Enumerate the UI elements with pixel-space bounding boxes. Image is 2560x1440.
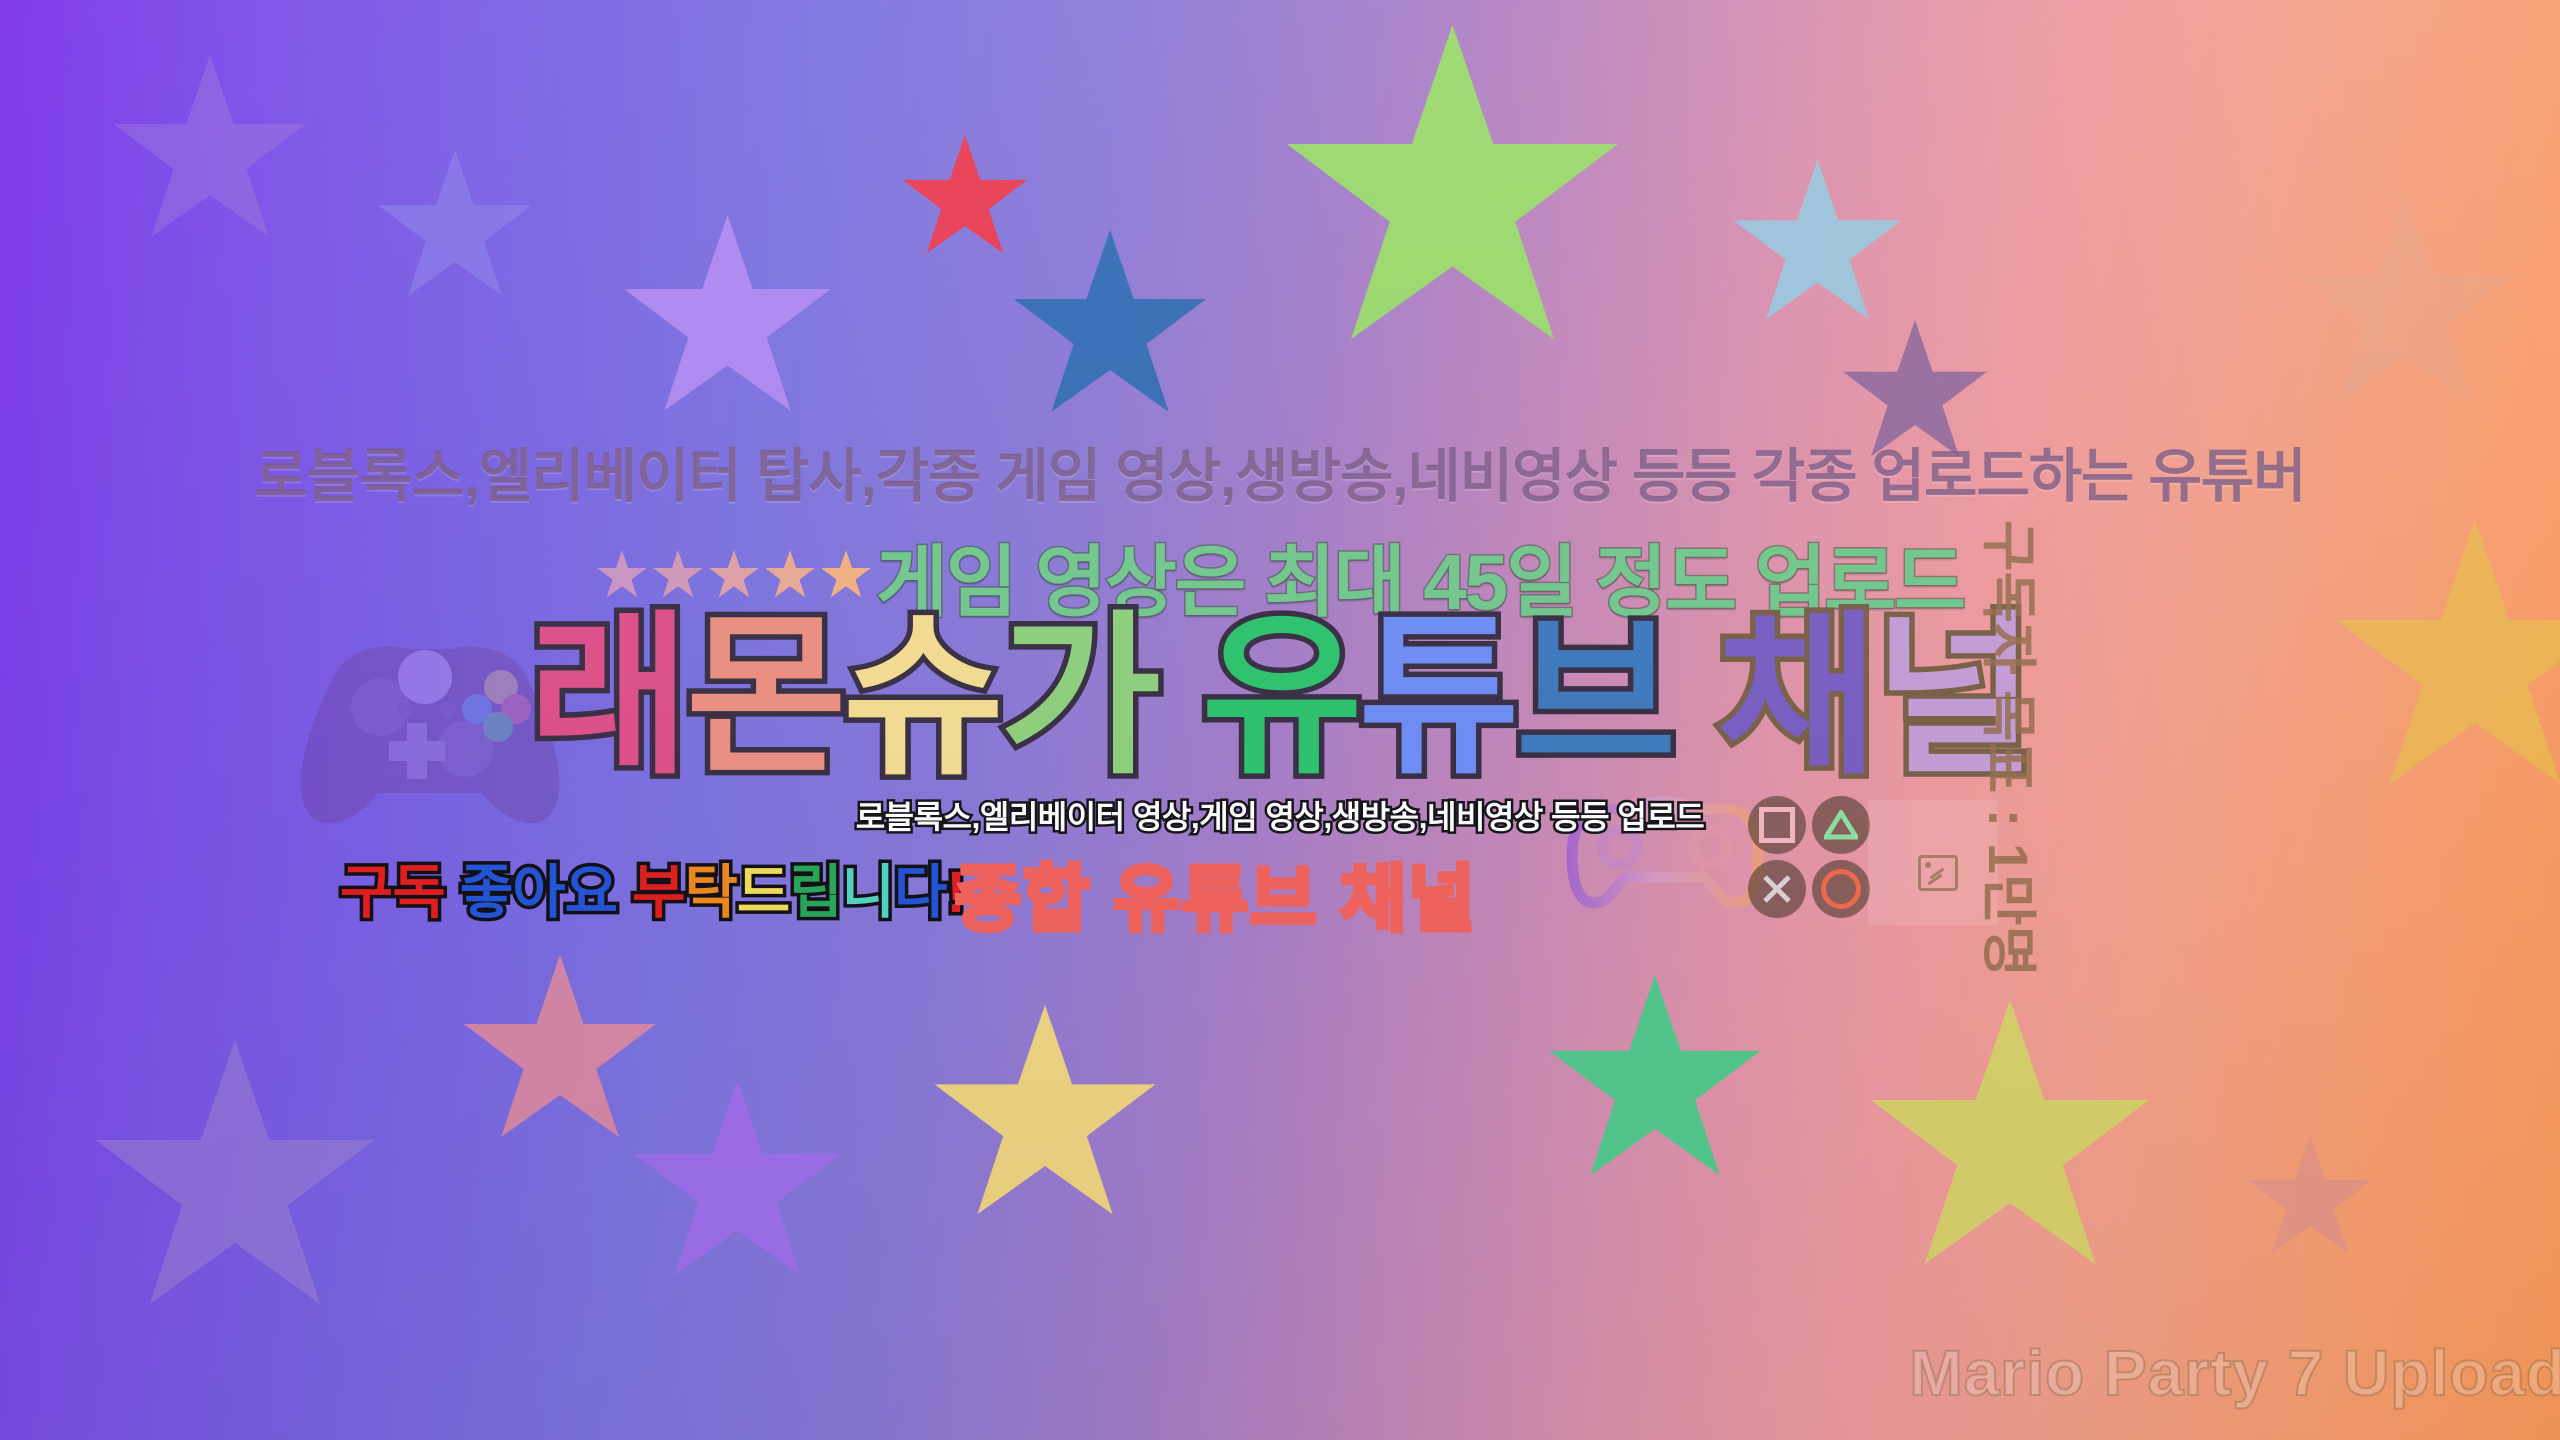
- decor-star: [1865, 1000, 2155, 1290]
- cta-char: 요: [565, 860, 617, 925]
- ps-circle-icon: [1812, 860, 1870, 918]
- decor-star: [90, 1040, 380, 1330]
- title-char: 래: [529, 600, 686, 795]
- cta-char: 구: [340, 860, 392, 925]
- title-char: [1673, 600, 1718, 795]
- decor-star: [1280, 25, 1625, 370]
- cta-char: 좋: [460, 860, 512, 925]
- title-char: 튜: [1359, 600, 1516, 795]
- ps-cross-icon: [1748, 860, 1806, 918]
- title-char: [1157, 600, 1202, 795]
- channel-description: 로블록스,엘리베이터 탑사,각종 게임 영상,생방송,네비영상 등등 각종 업로…: [254, 448, 2305, 506]
- cta-char: [617, 860, 632, 925]
- cta-char: 아: [512, 860, 564, 925]
- rating-star: [820, 550, 872, 602]
- broken-image-icon: [1918, 855, 1958, 891]
- decor-star: [1545, 975, 1765, 1195]
- decor-star: [2245, 1135, 2375, 1265]
- subscribe-call-to-action: 구독 좋아요 부탁드립니다!: [340, 845, 965, 929]
- star-rating: [596, 550, 872, 602]
- title-char: 슈: [843, 600, 1000, 795]
- subscriber-goal-label: 구독자 목표 : 1만명: [1972, 520, 2053, 977]
- bottom-right-note: Mario Party 7 Upload: [1909, 1336, 2560, 1410]
- cta-char: 드: [737, 860, 789, 925]
- title-char: 가: [1000, 600, 1157, 795]
- cta-char: 립: [789, 860, 841, 925]
- cta-char: 다: [894, 860, 946, 925]
- decor-star: [2330, 520, 2560, 810]
- content-caption: 로블록스,엘리베이터 영상,게임 영상,생방송,네비영상 등등 업로드: [856, 792, 1705, 838]
- ps-face-buttons: [1748, 796, 1870, 918]
- cta-char: 부: [632, 860, 684, 925]
- title-char: 브: [1516, 600, 1673, 795]
- decor-star: [1730, 160, 1905, 335]
- title-char: 유: [1202, 600, 1359, 795]
- decor-star: [630, 1080, 845, 1295]
- rating-star: [708, 550, 760, 602]
- decor-star: [620, 215, 835, 430]
- decor-star: [930, 1005, 1160, 1235]
- rating-star: [596, 550, 648, 602]
- rating-star: [764, 550, 816, 602]
- decor-star: [110, 55, 310, 255]
- channel-tagline: 종합 유튜브 채널: [955, 840, 1477, 945]
- decor-star: [2290, 195, 2520, 425]
- ps-triangle-icon: [1812, 796, 1870, 854]
- channel-banner: 로블록스,엘리베이터 탑사,각종 게임 영상,생방송,네비영상 등등 각종 업로…: [0, 0, 2560, 1440]
- cta-char: 니: [842, 860, 894, 925]
- ps-square-icon: [1748, 796, 1806, 854]
- decor-star: [375, 150, 535, 310]
- page-title: 래몬슈가 유튜브 채널: [529, 610, 2031, 785]
- title-char: 몬: [686, 600, 843, 795]
- cta-char: 탁: [685, 860, 737, 925]
- cta-char: 독: [392, 860, 444, 925]
- cta-char: [445, 860, 460, 925]
- decor-star: [1010, 230, 1210, 430]
- rating-star: [652, 550, 704, 602]
- decor-star: [460, 955, 660, 1155]
- decor-star: [900, 135, 1030, 265]
- title-char: 채: [1717, 600, 1874, 795]
